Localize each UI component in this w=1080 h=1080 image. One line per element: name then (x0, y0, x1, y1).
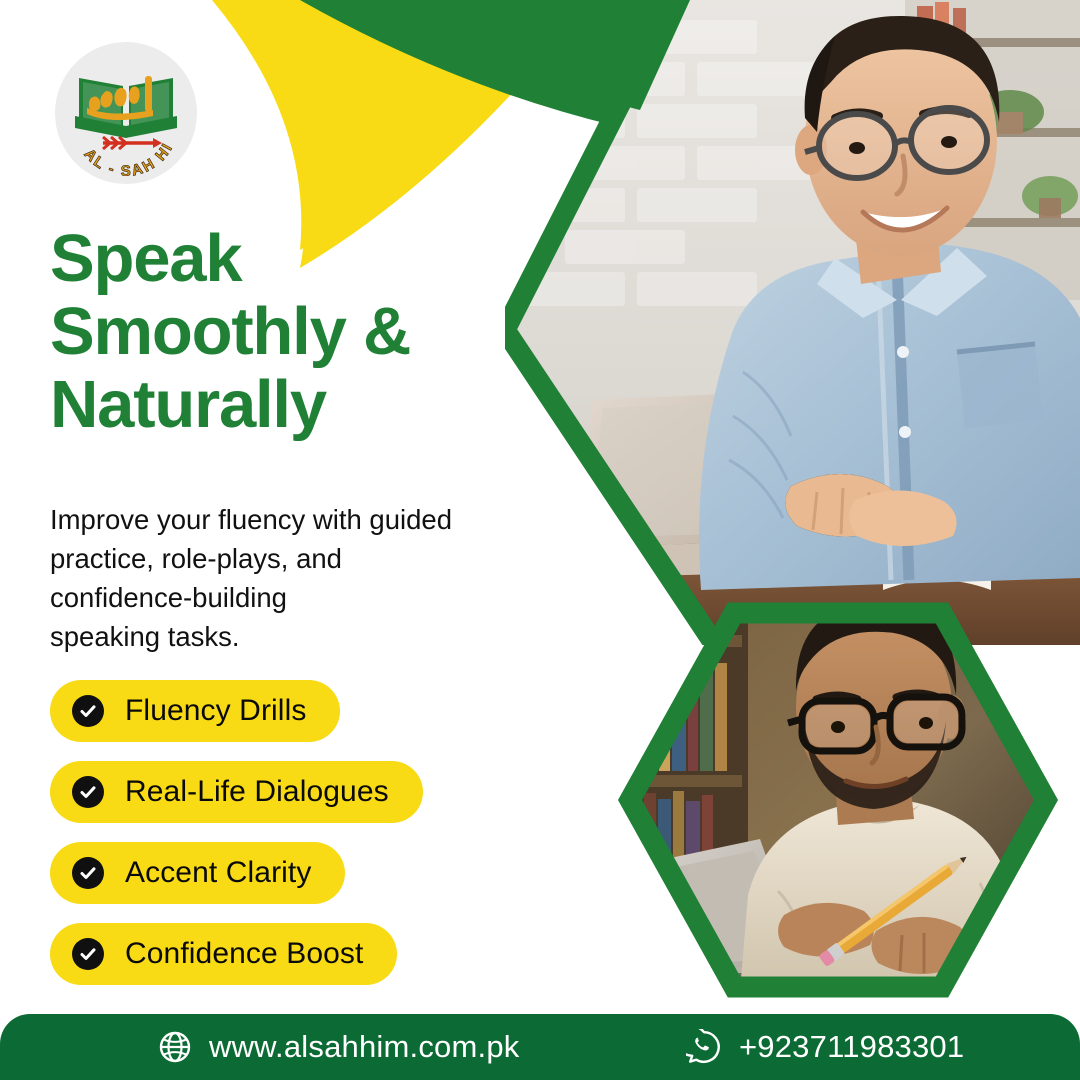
poster-canvas: AL - SAH HIM Speak Smoothly & Naturally … (0, 0, 1080, 1080)
whatsapp-contact[interactable]: +923711983301 (686, 1014, 964, 1080)
feature-pill-real-life-dialogues[interactable]: Real-Life Dialogues (50, 761, 423, 823)
check-circle-icon (72, 776, 104, 808)
feature-label: Fluency Drills (125, 694, 306, 728)
headline-line-3: Naturally (50, 368, 520, 441)
feature-label: Real-Life Dialogues (125, 775, 389, 809)
feature-label: Confidence Boost (125, 937, 363, 971)
phone-text: +923711983301 (739, 1029, 964, 1065)
check-circle-icon (72, 857, 104, 889)
subtitle-line-1: Improve your fluency with guided (50, 500, 505, 539)
feature-label: Accent Clarity (125, 856, 311, 890)
website-contact[interactable]: www.alsahhim.com.pk (158, 1014, 519, 1080)
subtitle-line-4: speaking tasks. (50, 617, 505, 656)
brand-logo: AL - SAH HIM (55, 42, 197, 184)
feature-pill-fluency-drills[interactable]: Fluency Drills (50, 680, 340, 742)
check-circle-icon (72, 938, 104, 970)
feature-pill-accent-clarity[interactable]: Accent Clarity (50, 842, 345, 904)
bottom-photo (608, 595, 1068, 1005)
headline-line-2: Smoothly & (50, 295, 520, 368)
check-circle-icon (72, 695, 104, 727)
feature-pill-confidence-boost[interactable]: Confidence Boost (50, 923, 397, 985)
page-title: Speak Smoothly & Naturally (50, 222, 520, 441)
subtitle-line-3: confidence-building (50, 578, 505, 617)
subtitle: Improve your fluency with guided practic… (50, 500, 505, 656)
subtitle-line-2: practice, role-plays, and (50, 539, 505, 578)
whatsapp-icon (686, 1029, 722, 1065)
contact-footer: www.alsahhim.com.pk +923711983301 (0, 1014, 1080, 1080)
feature-list: Fluency Drills Real-Life Dialogues Accen… (50, 680, 423, 985)
headline-line-1: Speak (50, 222, 520, 295)
website-text: www.alsahhim.com.pk (209, 1029, 519, 1065)
globe-icon (158, 1030, 192, 1064)
arrow-right-icon (103, 137, 162, 149)
logo-graphic: AL - SAH HIM (63, 50, 189, 176)
